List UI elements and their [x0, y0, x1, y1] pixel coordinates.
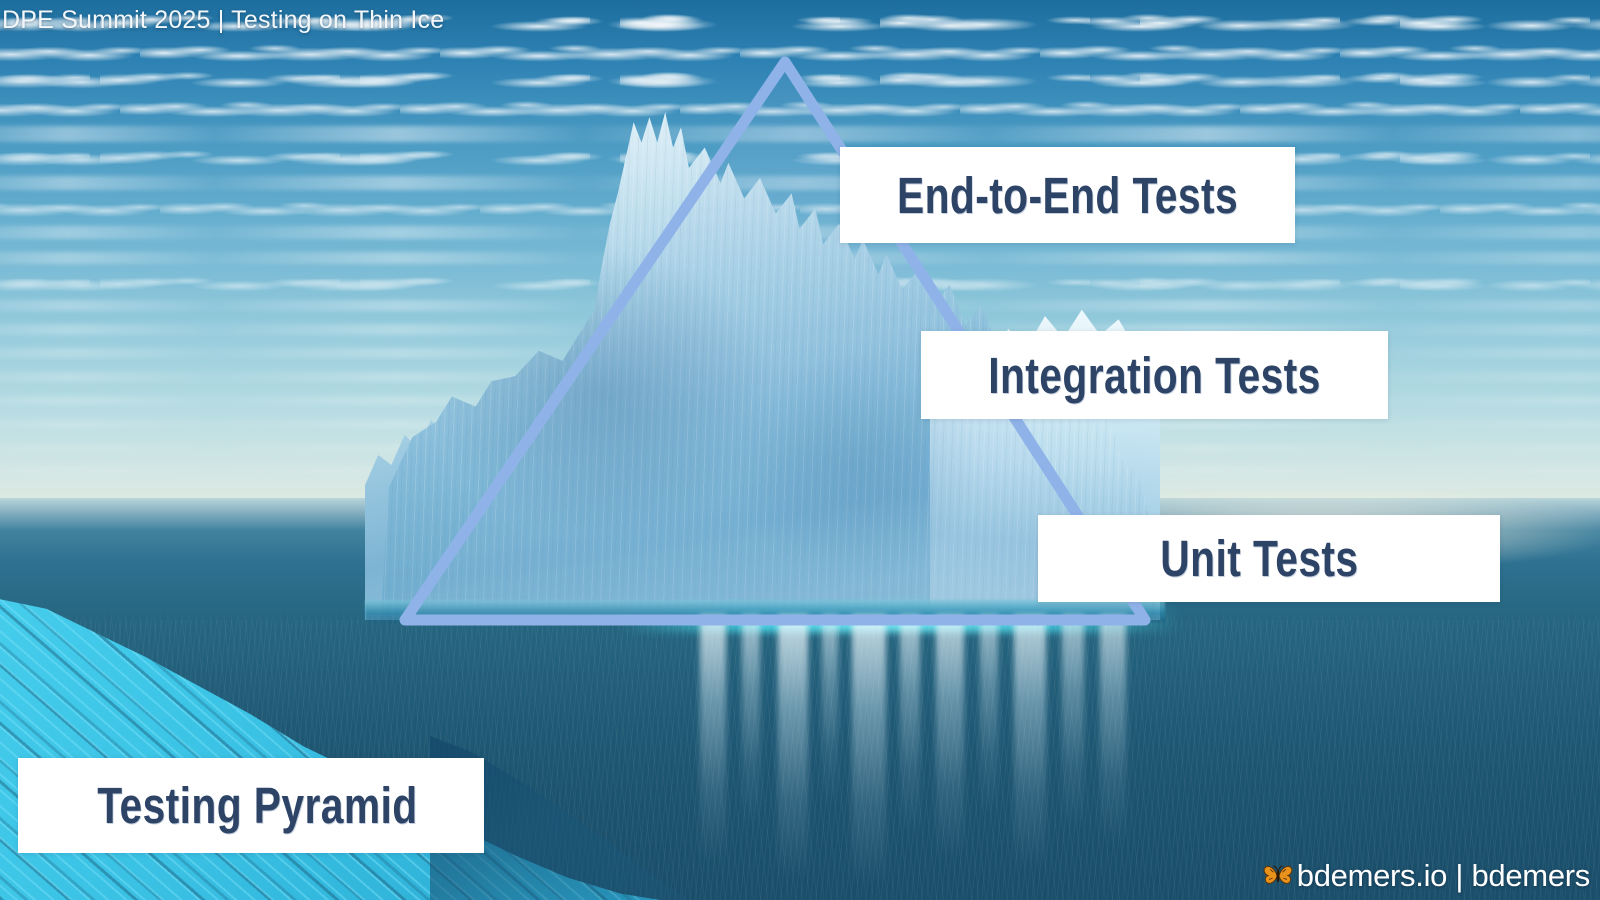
watermark[interactable]: bdemers.io | bdemers — [1263, 858, 1590, 894]
label-integration-tests[interactable]: Integration Tests — [921, 331, 1388, 419]
label-text: Unit Tests — [1084, 529, 1454, 588]
butterfly-icon — [1263, 863, 1293, 889]
caption-text: Testing Pyramid — [65, 776, 438, 835]
watermark-text: bdemers.io | bdemers — [1297, 858, 1590, 894]
label-unit-tests[interactable]: Unit Tests — [1038, 515, 1500, 602]
slide-canvas: End-to-End Tests Integration Tests Unit … — [0, 0, 1600, 900]
label-text: Integration Tests — [968, 346, 1342, 405]
page-title: DPE Summit 2025 | Testing on Thin Ice — [0, 6, 444, 35]
label-text: End-to-End Tests — [886, 166, 1250, 225]
label-end-to-end-tests[interactable]: End-to-End Tests — [840, 147, 1295, 243]
label-testing-pyramid-caption[interactable]: Testing Pyramid — [18, 758, 484, 853]
header-bar: DPE Summit 2025 | Testing on Thin Ice — [0, 0, 1600, 40]
